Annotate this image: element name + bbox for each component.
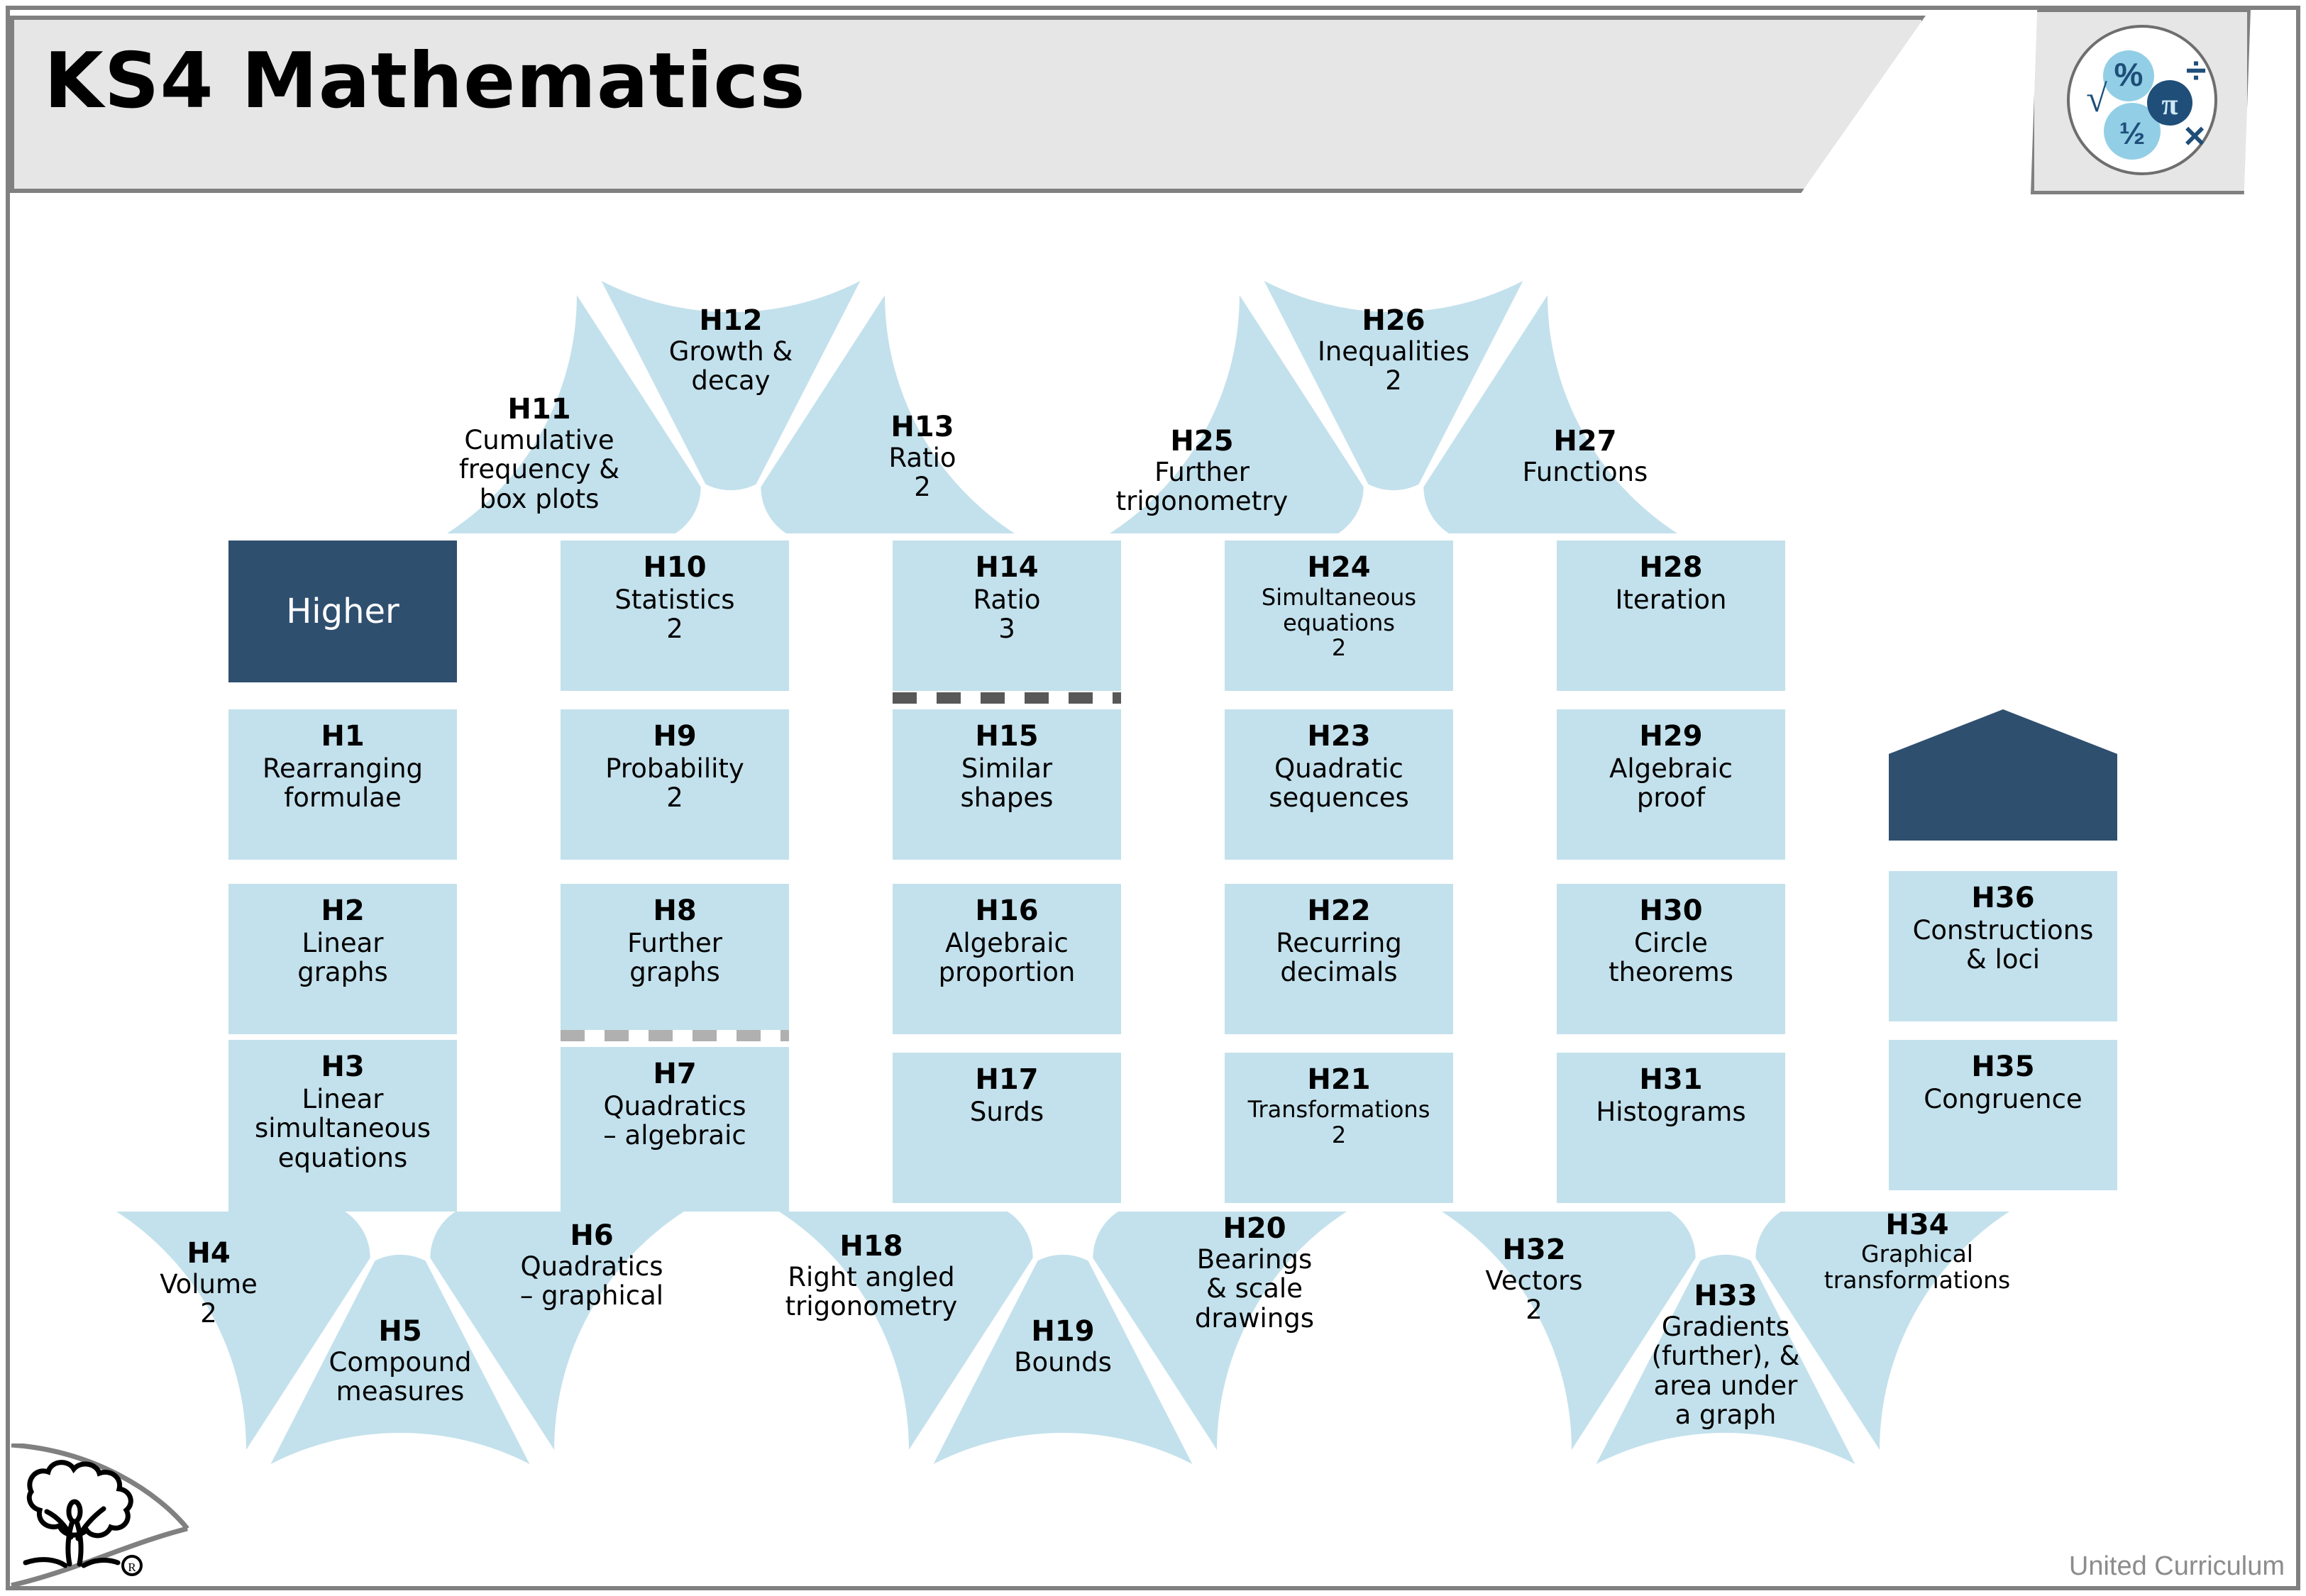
tier-label-higher: Higher xyxy=(228,541,457,682)
unit-name: Growth & decay xyxy=(589,337,873,396)
unit-name: Linear graphs xyxy=(297,929,388,987)
unit-name: Congruence xyxy=(1924,1085,2082,1114)
unit-name: Rearranging formulae xyxy=(263,754,423,813)
unit-block-h4[interactable]: H4Volume 2 xyxy=(67,1238,351,1329)
unit-block-h11[interactable]: H11Cumulative frequency & box plots xyxy=(397,394,681,514)
unit-block-h18[interactable]: H18Right angled trigonometry xyxy=(729,1231,1013,1321)
unit-name: Simultaneous equations 2 xyxy=(1262,585,1416,661)
unit-block-h10[interactable]: H10Statistics 2 xyxy=(561,541,789,691)
unit-code: H18 xyxy=(729,1231,1013,1263)
unit-name: Further graphs xyxy=(627,929,722,987)
unit-block-h14[interactable]: H14Ratio 3 xyxy=(893,541,1121,691)
unit-name: Quadratic sequences xyxy=(1269,754,1409,813)
unit-name: Cumulative frequency & box plots xyxy=(397,426,681,514)
unit-name: Algebraic proof xyxy=(1609,754,1733,813)
unit-code: H2 xyxy=(321,895,364,927)
unit-code: H10 xyxy=(643,552,706,584)
unit-code: H6 xyxy=(450,1220,734,1252)
unit-block-h21[interactable]: H21Transformations 2 xyxy=(1225,1053,1453,1203)
unit-code: H8 xyxy=(653,895,696,927)
unit-block-h34[interactable]: H34Graphical transformations xyxy=(1775,1209,2059,1294)
unit-code: H34 xyxy=(1775,1209,2059,1241)
unit-name: Graphical transformations xyxy=(1775,1241,2059,1294)
unit-name: Gradients (further), & area under a grap… xyxy=(1584,1312,1868,1430)
svg-text:R: R xyxy=(128,1561,136,1574)
unit-block-h1[interactable]: H1Rearranging formulae xyxy=(228,709,457,860)
unit-name: Ratio 2 xyxy=(780,443,1064,502)
unit-block-h26[interactable]: H26Inequalities 2 xyxy=(1252,305,1535,396)
unit-name: Recurring decimals xyxy=(1276,929,1402,987)
unit-block-h5[interactable]: H5Compound measures xyxy=(258,1316,542,1407)
unit-block-h36[interactable]: H36Constructions & loci xyxy=(1889,871,2117,1021)
unit-block-h29[interactable]: H29Algebraic proof xyxy=(1557,709,1785,860)
unit-block-h31[interactable]: H31Histograms xyxy=(1557,1053,1785,1203)
unit-block-h33[interactable]: H33Gradients (further), & area under a g… xyxy=(1584,1280,1868,1430)
unit-name: Probability 2 xyxy=(605,754,744,813)
unit-code: H13 xyxy=(780,411,1064,443)
unit-name: Bounds xyxy=(921,1348,1205,1377)
unit-block-h9[interactable]: H9Probability 2 xyxy=(561,709,789,860)
unit-code: H27 xyxy=(1443,426,1727,458)
unit-name: Circle theorems xyxy=(1609,929,1733,987)
unit-code: H20 xyxy=(1113,1213,1396,1245)
unit-name: Constructions & loci xyxy=(1913,916,2094,975)
unit-name: Surds xyxy=(970,1097,1044,1126)
unit-code: H21 xyxy=(1307,1064,1370,1096)
unit-block-h8[interactable]: H8Further graphs xyxy=(561,884,789,1031)
unit-code: H16 xyxy=(975,895,1038,927)
unit-block-h27[interactable]: H27Functions xyxy=(1443,426,1727,487)
unit-name: Histograms xyxy=(1596,1097,1745,1126)
unit-code: H14 xyxy=(975,552,1038,584)
unit-block-h7[interactable]: H7Quadratics – algebraic xyxy=(561,1047,789,1212)
unit-block-h35[interactable]: H35Congruence xyxy=(1889,1040,2117,1190)
unit-code: H29 xyxy=(1639,721,1702,753)
unit-block-h6[interactable]: H6Quadratics – graphical xyxy=(450,1220,734,1311)
unit-code: H35 xyxy=(1971,1051,2034,1083)
unit-block-h22[interactable]: H22Recurring decimals xyxy=(1225,884,1453,1034)
unit-name: Compound measures xyxy=(258,1348,542,1407)
unit-name: Statistics 2 xyxy=(614,585,734,644)
unit-block-h28[interactable]: H28Iteration xyxy=(1557,541,1785,691)
unit-name: Similar shapes xyxy=(961,754,1054,813)
unit-code: H36 xyxy=(1971,882,2034,914)
unit-code: H25 xyxy=(1060,426,1344,458)
unit-code: H23 xyxy=(1307,721,1370,753)
unit-name: Further trigonometry xyxy=(1060,458,1344,516)
united-learning-tree-badge: R xyxy=(10,1443,194,1589)
unit-code: H4 xyxy=(67,1238,351,1270)
phase-divider-light xyxy=(561,1030,789,1041)
unit-block-h30[interactable]: H30Circle theorems xyxy=(1557,884,1785,1034)
unit-name: Inequalities 2 xyxy=(1252,337,1535,396)
footer-brand: United Curriculum xyxy=(2069,1551,2285,1582)
unit-code: H17 xyxy=(975,1064,1038,1096)
unit-block-h24[interactable]: H24Simultaneous equations 2 xyxy=(1225,541,1453,691)
unit-code: H31 xyxy=(1639,1064,1702,1096)
unit-code: H22 xyxy=(1307,895,1370,927)
unit-name: Quadratics – graphical xyxy=(450,1252,734,1311)
unit-code: H11 xyxy=(397,394,681,426)
unit-block-h2[interactable]: H2Linear graphs xyxy=(228,884,457,1034)
unit-code: H15 xyxy=(975,721,1038,753)
unit-code: H12 xyxy=(589,305,873,337)
unit-code: H3 xyxy=(321,1051,364,1083)
unit-name: Transformations 2 xyxy=(1248,1097,1430,1148)
unit-name: Functions xyxy=(1443,458,1727,487)
unit-code: H30 xyxy=(1639,895,1702,927)
unit-code: H26 xyxy=(1252,305,1535,337)
unit-block-h3[interactable]: H3Linear simultaneous equations xyxy=(228,1040,457,1212)
unit-block-h20[interactable]: H20Bearings & scale drawings xyxy=(1113,1213,1396,1333)
unit-block-h15[interactable]: H15Similar shapes xyxy=(893,709,1121,860)
unit-name: Algebraic proportion xyxy=(939,929,1076,987)
unit-block-h13[interactable]: H13Ratio 2 xyxy=(780,411,1064,502)
unit-code: H5 xyxy=(258,1316,542,1348)
unit-name: Ratio 3 xyxy=(973,585,1041,644)
unit-block-h12[interactable]: H12Growth & decay xyxy=(589,305,873,396)
unit-code: H24 xyxy=(1307,552,1370,584)
unit-code: H7 xyxy=(653,1058,696,1090)
unit-block-h17[interactable]: H17Surds xyxy=(893,1053,1121,1203)
unit-block-h16[interactable]: H16Algebraic proportion xyxy=(893,884,1121,1034)
unit-name: Quadratics – algebraic xyxy=(603,1092,746,1151)
unit-block-h23[interactable]: H23Quadratic sequences xyxy=(1225,709,1453,860)
unit-code: H9 xyxy=(653,721,696,753)
phase-divider-dark xyxy=(893,692,1121,704)
tree-logo-icon: R xyxy=(10,1443,194,1589)
unit-name: Right angled trigonometry xyxy=(729,1263,1013,1321)
unit-block-h25[interactable]: H25Further trigonometry xyxy=(1060,426,1344,516)
unit-name: Iteration xyxy=(1616,585,1727,614)
unit-code: H1 xyxy=(321,721,364,753)
tier-label-text: Higher xyxy=(286,592,399,631)
unit-code: H32 xyxy=(1392,1234,1676,1266)
unit-code: H28 xyxy=(1639,552,1702,584)
unit-name: Bearings & scale drawings xyxy=(1113,1245,1396,1333)
unit-name: Linear simultaneous equations xyxy=(255,1085,431,1173)
